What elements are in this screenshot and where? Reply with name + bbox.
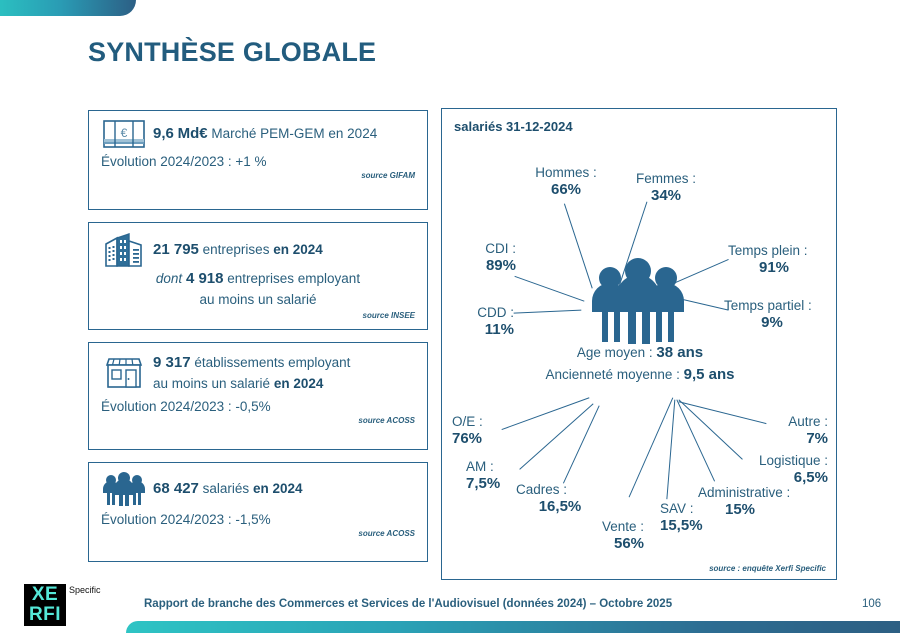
estabs-evolution-line: Évolution 2024/2023 : -0,5% [101,399,415,414]
spoke-temps-partiel-value: 9% [724,314,838,332]
bottom-accent-bar [126,621,900,633]
spoke-cdi-value: 89% [442,257,516,275]
stat-card-firms: 21 795 entreprises en 2024 dont 4 918 en… [88,222,428,330]
salaried-label-bold: en 2024 [253,481,303,496]
spoke-administrative: Administrative : 15% [698,485,818,519]
salaried-evolution-value: -1,5% [235,512,270,527]
panel-source: source : enquête Xerfi Specific [709,564,826,573]
footer-report-title: Rapport de branche des Commerces et Serv… [144,598,672,610]
spoke-administrative-label: Administrative : [698,485,818,501]
spoke-am-label: AM : [466,459,526,475]
market-value: 9,6 [153,125,174,142]
top-accent-bar [0,0,136,16]
spoke-autre-label: Autre : [742,414,828,430]
salaried-evolution-label: Évolution 2024/2023 : [101,512,235,527]
spoke-temps-plein: Temps plein : 91% [728,243,838,277]
page-title: SYNTHÈSE GLOBALE [88,37,376,68]
firms-value: 21 795 [153,241,199,258]
stat-cards-column: € 9,6 Md€ Marché PEM-GEM en 2024 Évoluti… [88,110,428,574]
estabs-label2: au moins un salarié [153,376,274,391]
spoke-oe: O/E : 76% [452,414,514,448]
spoke-cdd-label: CDD : [442,305,514,321]
xerfi-logo-mark: XE RFI [24,584,66,626]
spoke-sav-value: 15,5% [660,517,726,535]
spoke-femmes: Femmes : 34% [622,171,710,205]
estabs-label: établissements employant [194,355,350,370]
people-group-icon [588,256,688,348]
estabs-label2-bold: en 2024 [274,376,324,391]
market-evolution-line: Évolution 2024/2023 : +1 % [101,154,415,169]
estabs-label-line2: au moins un salarié en 2024 [153,374,415,394]
spoke-femmes-value: 34% [622,187,710,205]
anciennete-value: 9,5 ans [684,366,735,383]
age-moyen-line: Age moyen : 38 ans [442,344,838,361]
spoke-temps-plein-value: 91% [728,259,838,277]
employee-profile-panel: salariés 31-12-2024 [441,108,837,580]
market-evolution-label: Évolution 2024/2023 : [101,154,235,169]
banknote-euro-icon: € [101,120,147,148]
spoke-hommes-value: 66% [520,181,612,199]
spoke-temps-partiel: Temps partiel : 9% [724,298,838,332]
spoke-oe-value: 76% [452,430,514,448]
age-moyen-value: 38 ans [656,344,703,361]
spoke-temps-partiel-label: Temps partiel : [724,298,838,314]
xerfi-specific-logo: XE RFI Specific [24,584,101,626]
anciennete-line: Ancienneté moyenne : 9,5 ans [442,366,838,383]
spoke-hommes-label: Hommes : [520,165,612,181]
estabs-value-line: 9 317 établissements employant [153,352,415,374]
spoke-cadres-label: Cadres : [516,482,588,498]
spoke-hommes: Hommes : 66% [520,165,612,199]
spoke-vente: Vente : 56% [602,519,664,553]
spoke-cdi: CDI : 89% [442,241,516,275]
firms-source: source INSEE [101,311,415,320]
office-buildings-icon [101,232,147,268]
estabs-source: source ACOSS [101,416,415,425]
firms-label: entreprises [203,242,274,257]
market-value-line: 9,6 Md€ Marché PEM-GEM en 2024 [153,123,415,145]
spoke-oe-label: O/E : [452,414,514,430]
firms-sub-line: dont 4 918 entreprises employant [101,268,415,290]
firms-sub-label: entreprises employant [227,271,360,286]
estabs-value: 9 317 [153,354,191,371]
spoke-cdd: CDD : 11% [442,305,514,339]
spoke-femmes-label: Femmes : [622,171,710,187]
people-group-icon [101,472,147,506]
spoke-logistique-value: 6,5% [712,469,828,487]
spoke-autre: Autre : 7% [742,414,828,448]
salaried-value: 68 427 [153,480,199,497]
estabs-evolution-label: Évolution 2024/2023 : [101,399,235,414]
xerfi-logo-line2: RFI [24,605,66,625]
market-source: source GIFAM [101,171,415,180]
page-number: 106 [862,598,881,610]
salaried-evolution-line: Évolution 2024/2023 : -1,5% [101,512,415,527]
market-evolution-value: +1 % [235,154,266,169]
spoke-administrative-value: 15% [698,501,818,519]
spoke-vente-label: Vente : [602,519,664,535]
spoke-logistique-label: Logistique : [712,453,828,469]
spoke-vente-value: 56% [602,535,664,553]
svg-text:€: € [121,126,128,140]
storefront-icon [101,356,147,390]
salaried-label: salariés [203,481,253,496]
spoke-cadres-value: 16,5% [516,498,588,516]
stat-card-establishments: 9 317 établissements employant au moins … [88,342,428,450]
firms-sub-prefix: dont [156,271,186,286]
spoke-cadres: Cadres : 16,5% [516,482,588,516]
firms-label-bold: en 2024 [273,242,323,257]
panel-heading: salariés 31-12-2024 [454,119,573,134]
spoke-cdd-value: 11% [442,321,514,339]
firms-value-line: 21 795 entreprises en 2024 [153,239,415,261]
anciennete-label: Ancienneté moyenne : [546,367,684,382]
market-label: Marché PEM-GEM en 2024 [211,126,377,141]
spoke-autre-value: 7% [742,430,828,448]
xerfi-logo-line1: XE [24,585,66,605]
market-unit: Md€ [178,125,208,142]
stat-card-market: € 9,6 Md€ Marché PEM-GEM en 2024 Évoluti… [88,110,428,210]
xerfi-logo-word: Specific [69,585,101,595]
estabs-evolution-value: -0,5% [235,399,270,414]
firms-sub-value: 4 918 [186,270,224,287]
salaried-value-line: 68 427 salariés en 2024 [153,478,415,500]
spoke-logistique: Logistique : 6,5% [712,453,828,487]
spoke-temps-plein-label: Temps plein : [728,243,838,259]
age-moyen-label: Age moyen : [577,345,657,360]
firms-sub-line2: au moins un salarié [101,290,415,310]
stat-card-salaried: 68 427 salariés en 2024 Évolution 2024/2… [88,462,428,562]
salaried-source: source ACOSS [101,529,415,538]
spoke-cdi-label: CDI : [442,241,516,257]
